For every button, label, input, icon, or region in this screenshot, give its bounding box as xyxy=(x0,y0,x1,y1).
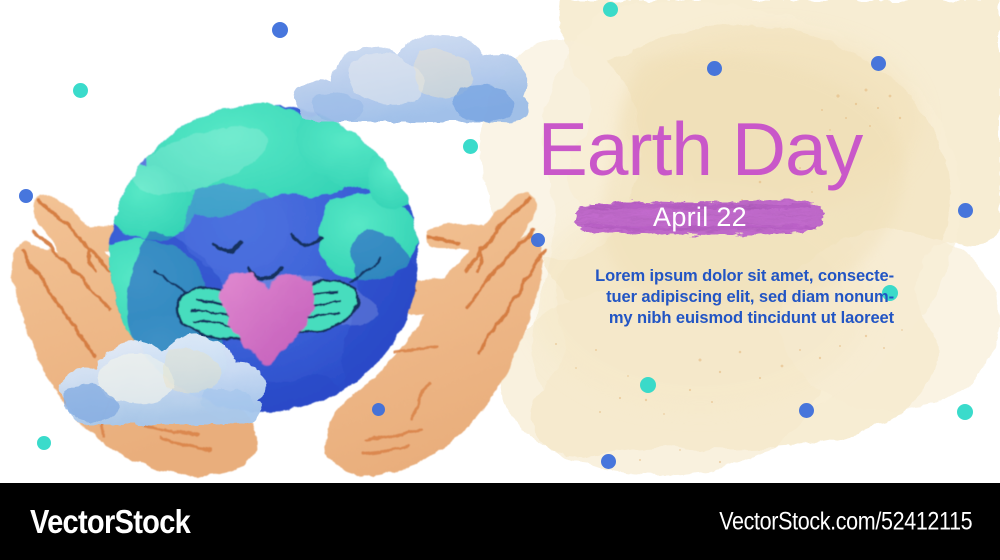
decorative-dot xyxy=(37,436,51,450)
decorative-dot xyxy=(707,61,722,76)
body-line-2: tuer adipiscing elit, sed diam nonum- xyxy=(500,287,894,308)
decorative-dot xyxy=(19,189,33,203)
decorative-dot xyxy=(603,2,618,17)
text-block: Earth Day xyxy=(500,108,900,329)
decorative-dot xyxy=(272,22,288,38)
date-brush-banner: April 22 xyxy=(570,194,830,240)
illustration-area: Earth Day xyxy=(0,0,1000,483)
banner-canvas: Earth Day xyxy=(0,0,1000,560)
decorative-dot xyxy=(640,377,656,393)
vectorstock-logo: VectorStock xyxy=(30,503,190,541)
decorative-dot xyxy=(601,454,616,469)
decorative-dot xyxy=(463,139,478,154)
decorative-dot xyxy=(799,403,814,418)
body-copy: Lorem ipsum dolor sit amet, consecte- tu… xyxy=(500,266,900,329)
watermark-footer: VectorStock VectorStock.com/52412115 xyxy=(0,483,1000,560)
decorative-dot xyxy=(957,404,973,420)
decorative-dot xyxy=(73,83,88,98)
body-line-3: my nibh euismod tincidunt ut laoreet xyxy=(500,308,894,329)
decorative-dot xyxy=(372,403,385,416)
body-line-1: Lorem ipsum dolor sit amet, consecte- xyxy=(500,266,894,287)
decorative-dot xyxy=(958,203,973,218)
page-title: Earth Day xyxy=(500,108,900,190)
vectorstock-url: VectorStock.com/52412115 xyxy=(719,507,972,536)
date-label: April 22 xyxy=(570,194,830,240)
decorative-dot xyxy=(871,56,886,71)
